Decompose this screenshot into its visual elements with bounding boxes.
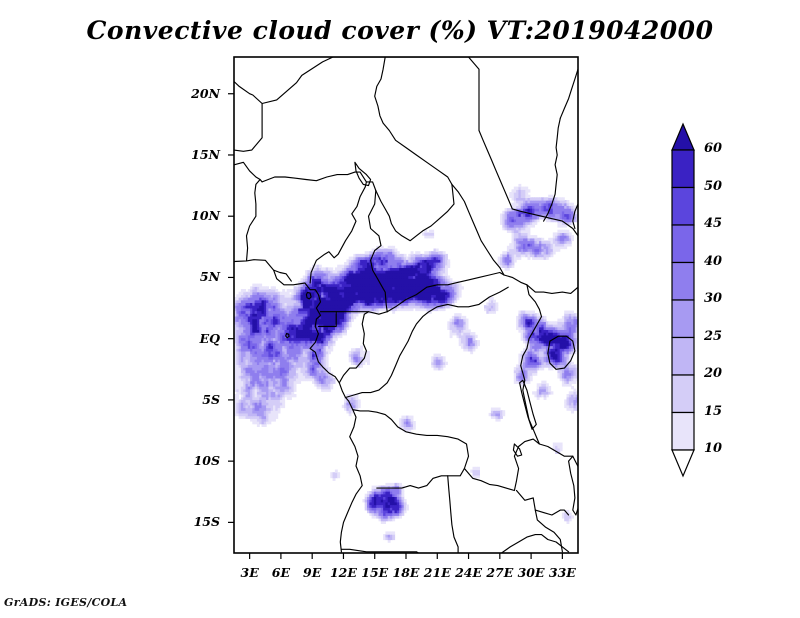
y-axis-tick-label: 10S xyxy=(172,453,220,468)
colorbar-tick-label: 60 xyxy=(704,141,722,156)
colorbar-tick-label: 45 xyxy=(704,216,722,231)
x-axis-tick-label: 33E xyxy=(538,565,586,580)
y-axis-tick-label: 20N xyxy=(172,86,220,101)
colorbar-tick-label: 50 xyxy=(704,179,722,194)
colorbar-tick-label: 10 xyxy=(704,441,722,456)
y-axis-tick-label: 10N xyxy=(172,208,220,223)
cloud-cover-shading xyxy=(234,184,581,543)
y-axis-tick-label: 5S xyxy=(172,392,220,407)
colorbar-tick-label: 40 xyxy=(704,254,722,269)
colorbar-tick-label: 25 xyxy=(704,329,722,344)
colorbar-tick-label: 20 xyxy=(704,366,722,381)
y-axis-tick-label: 5N xyxy=(172,269,220,284)
y-axis-tick-label: 15S xyxy=(172,514,220,529)
y-axis-tick-label: 15N xyxy=(172,147,220,162)
grads-plot-window: Convective cloud cover (%) VT:2019042000… xyxy=(0,0,800,618)
colorbar-tick-label: 15 xyxy=(704,404,722,419)
colorbar-tick-label: 30 xyxy=(704,291,722,306)
grads-credit: GrADS: IGES/COLA xyxy=(4,596,127,609)
y-axis-tick-label: EQ xyxy=(172,331,220,346)
